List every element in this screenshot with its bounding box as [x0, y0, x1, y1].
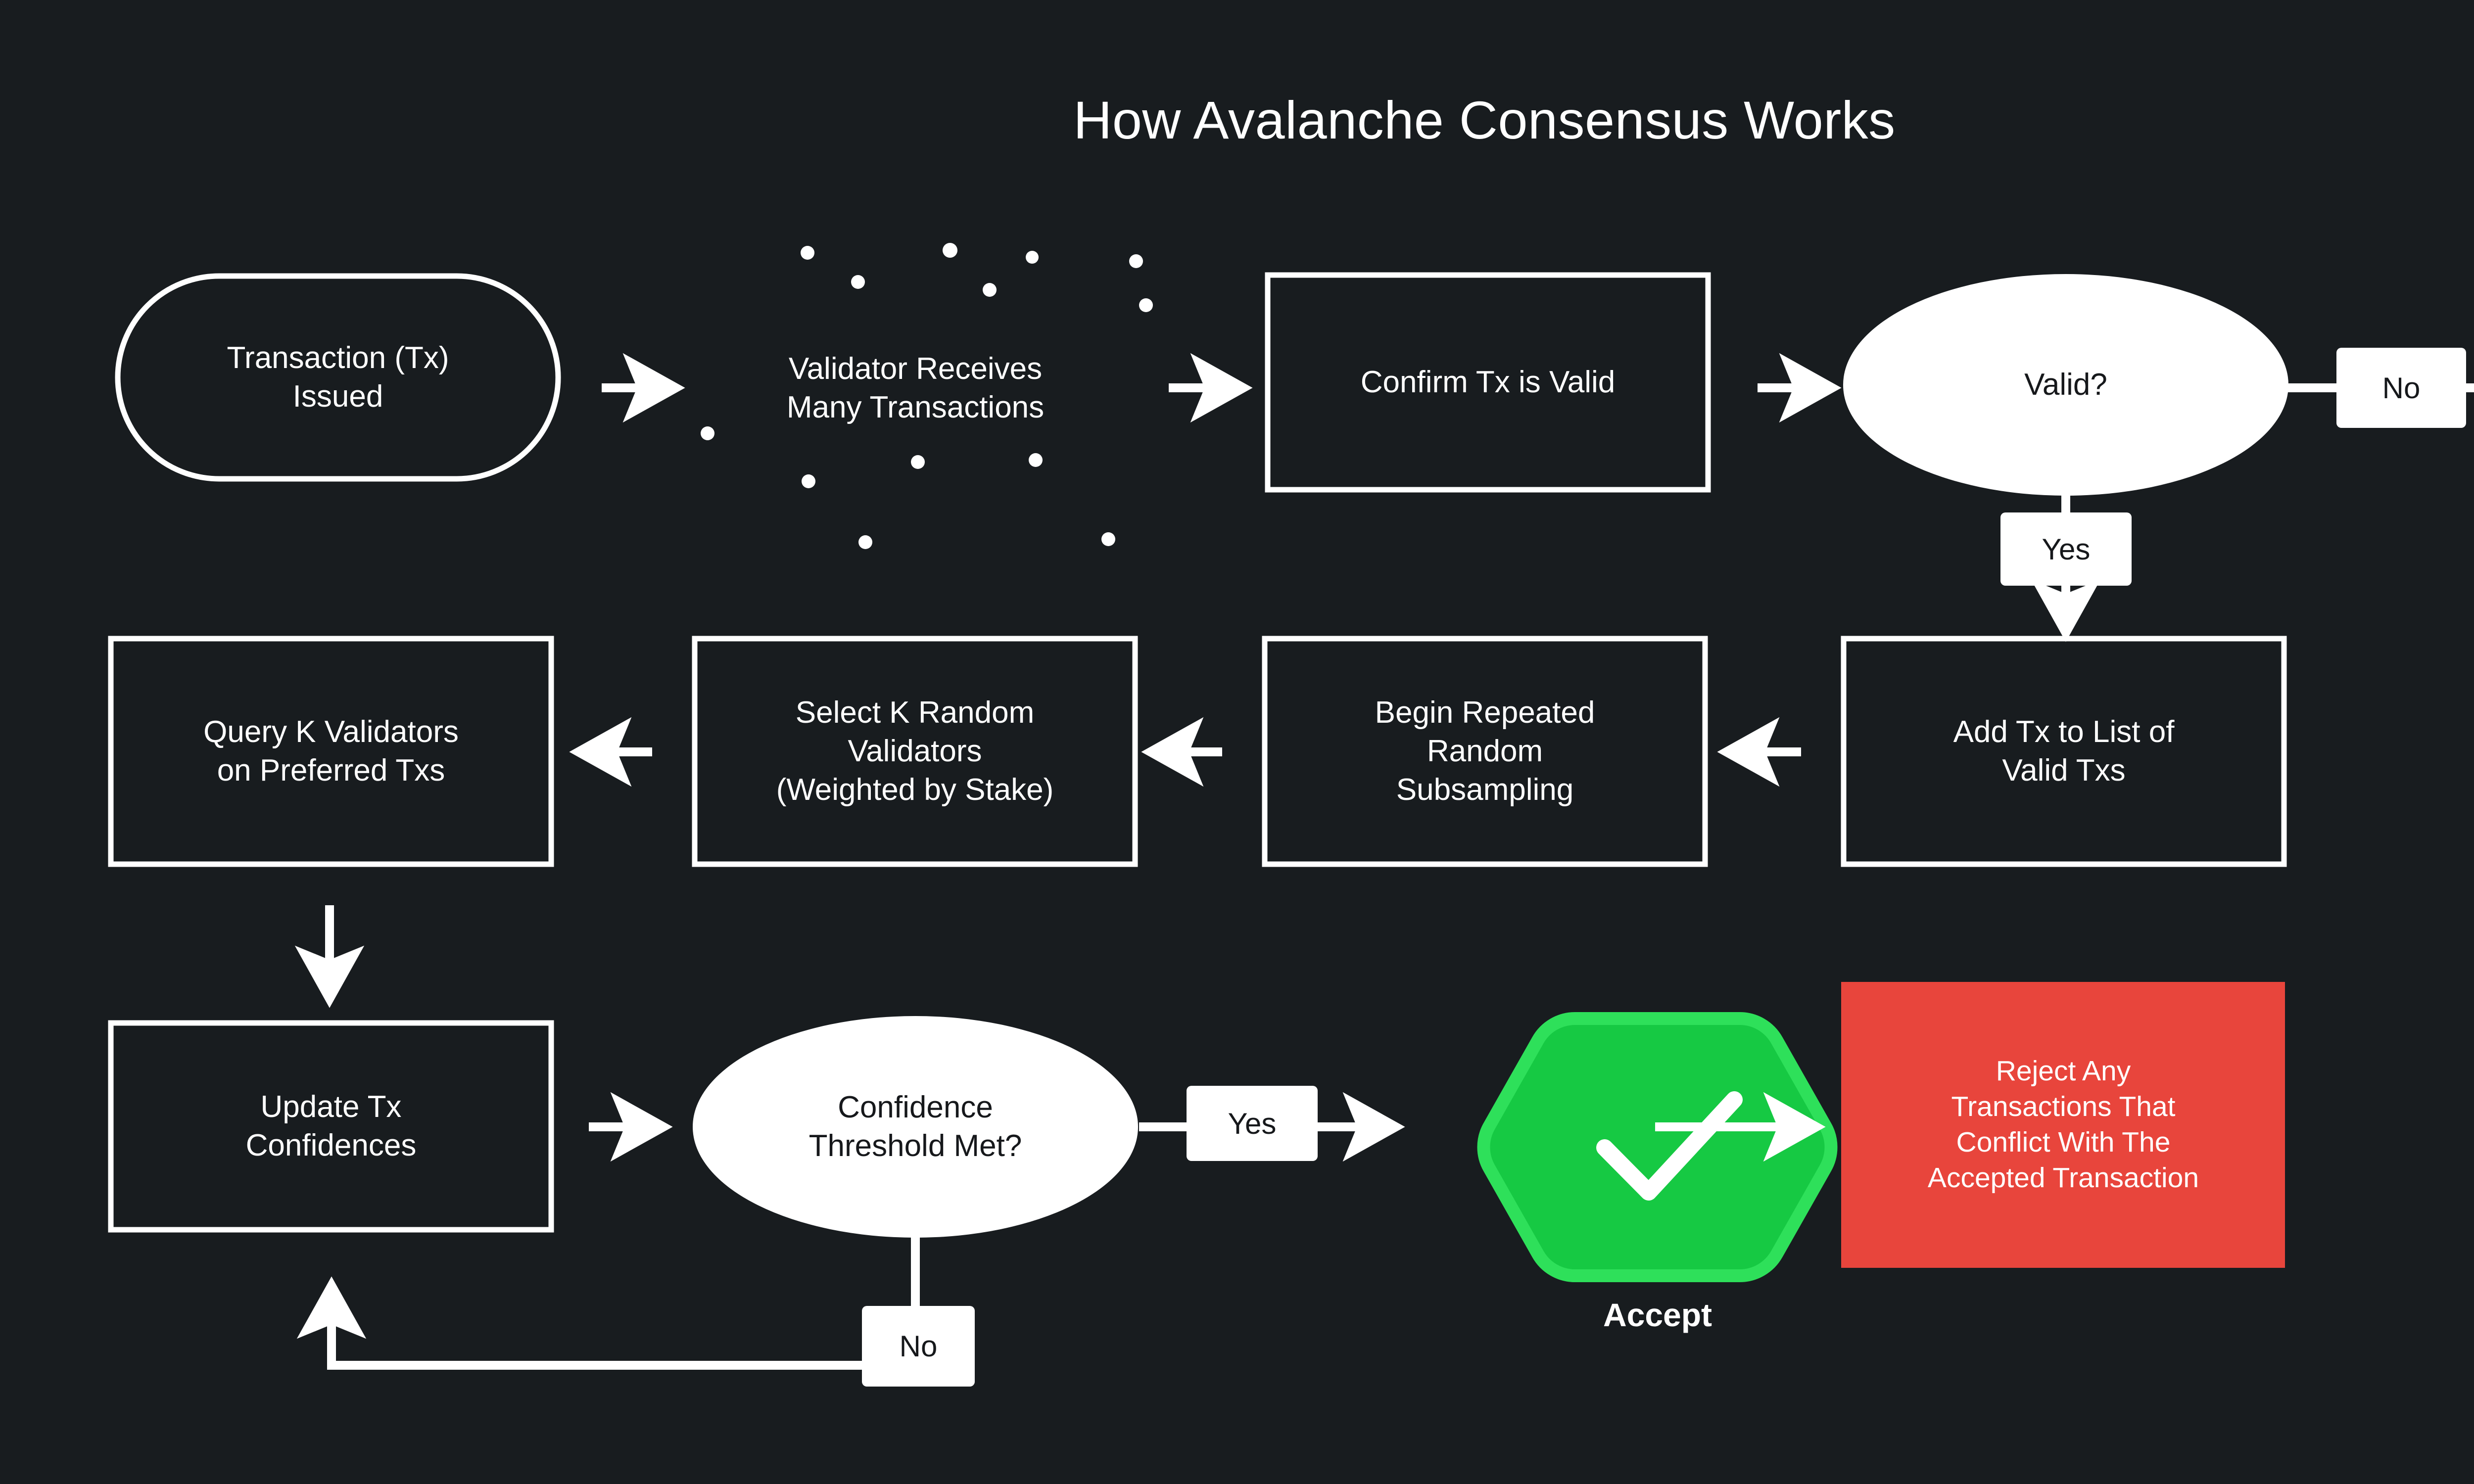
node-add-tx-label: Add Tx to List of Valid Txs — [1844, 639, 2284, 864]
node-accept-caption-wrap: Accept — [1435, 1296, 1880, 1334]
edge-no-feedback-loop — [332, 1296, 868, 1365]
node-accept-label: Accept — [1435, 1296, 1880, 1334]
node-validator-receives-label: Validator Receives Many Transactions — [693, 326, 1138, 450]
node-query-k-label: Query K Validators on Preferred Txs — [111, 639, 551, 864]
node-confirm-valid-label: Confirm Tx is Valid — [1268, 275, 1708, 490]
node-update-confidences-label: Update Tx Confidences — [111, 1023, 551, 1230]
node-valid-question-label: Valid? — [1843, 274, 2288, 496]
node-confidence-threshold-label: Confidence Threshold Met? — [693, 1016, 1138, 1238]
flowchart-canvas: How Avalanche Consensus Works — [0, 0, 2474, 1484]
node-accept-shape — [1483, 1019, 1831, 1276]
edge-label-valid-no: No — [2336, 348, 2466, 428]
node-tx-issued-label: Transaction (Tx) Issued — [118, 276, 558, 479]
edge-label-confidence-no: No — [862, 1306, 975, 1387]
edge-label-confidence-yes: Yes — [1187, 1086, 1318, 1161]
edge-label-valid-yes: Yes — [2000, 512, 2132, 586]
node-begin-subsampling-label: Begin Repeated Random Subsampling — [1265, 639, 1705, 864]
node-select-k-label: Select K Random Validators (Weighted by … — [695, 639, 1135, 864]
node-reject-label: Reject Any Transactions That Conflict Wi… — [1853, 982, 2274, 1268]
